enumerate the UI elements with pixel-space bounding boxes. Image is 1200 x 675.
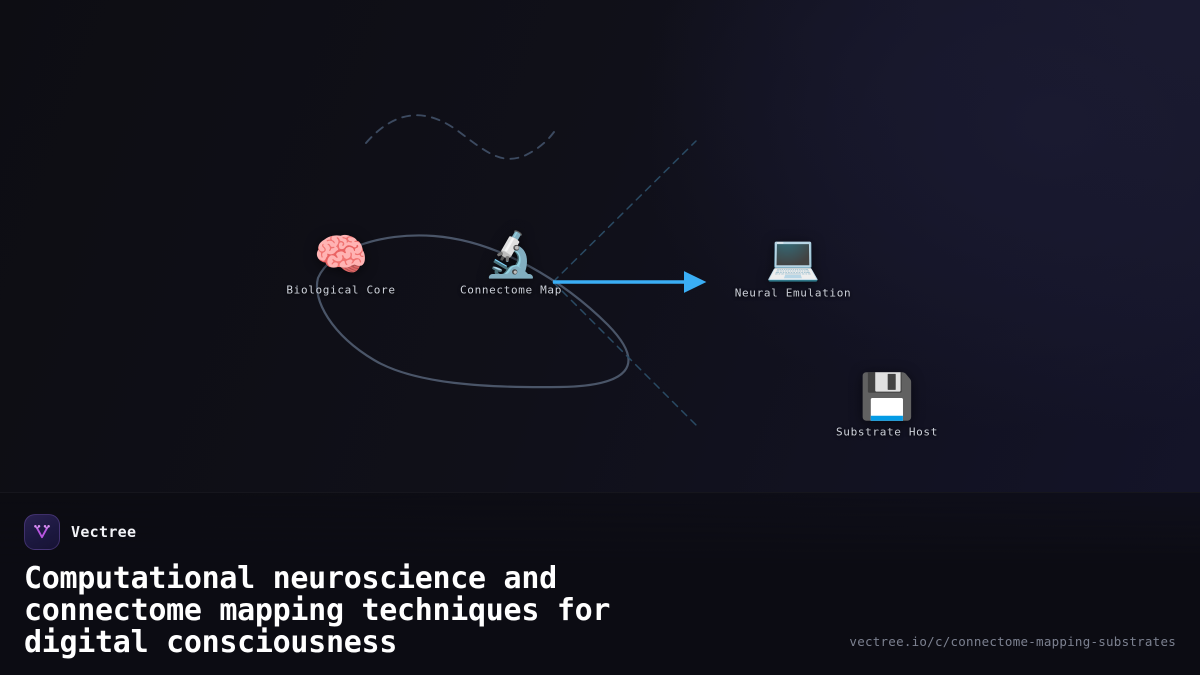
diagram-node-connectome-map[interactable]: 🔬 Connectome Map — [460, 234, 562, 297]
footer-panel: Vectree Computational neuroscience and c… — [0, 492, 1200, 675]
laptop-icon: 💻 — [766, 237, 821, 281]
node-label-connectome-map: Connectome Map — [460, 284, 562, 297]
node-label-neural-emulation: Neural Emulation — [735, 287, 852, 300]
vectree-logo-icon — [24, 514, 60, 550]
node-label-biological-core: Biological Core — [286, 284, 395, 297]
edge-diagonal-lower — [553, 282, 696, 425]
floppy-disk-icon: 💾 — [860, 376, 915, 420]
slide-canvas: 🧠 Biological Core 🔬 Connectome Map 💻 Neu… — [0, 0, 1200, 675]
diagram-node-neural-emulation[interactable]: 💻 Neural Emulation — [735, 237, 852, 300]
brand-row[interactable]: Vectree — [24, 515, 1176, 549]
page-title: Computational neuroscience and connectom… — [24, 563, 784, 659]
node-label-substrate-host: Substrate Host — [836, 426, 938, 439]
diagram-node-biological-core[interactable]: 🧠 Biological Core — [286, 234, 395, 297]
edge-wave-top — [366, 115, 554, 159]
edge-diagonal-upper — [553, 141, 696, 282]
diagram-canvas — [0, 0, 1200, 500]
microscope-icon: 🔬 — [484, 234, 539, 278]
brain-icon: 🧠 — [314, 234, 369, 278]
diagram-node-substrate-host[interactable]: 💾 Substrate Host — [836, 376, 938, 439]
footer-url: vectree.io/c/connectome-mapping-substrat… — [849, 634, 1176, 649]
brand-name: Vectree — [71, 523, 136, 541]
